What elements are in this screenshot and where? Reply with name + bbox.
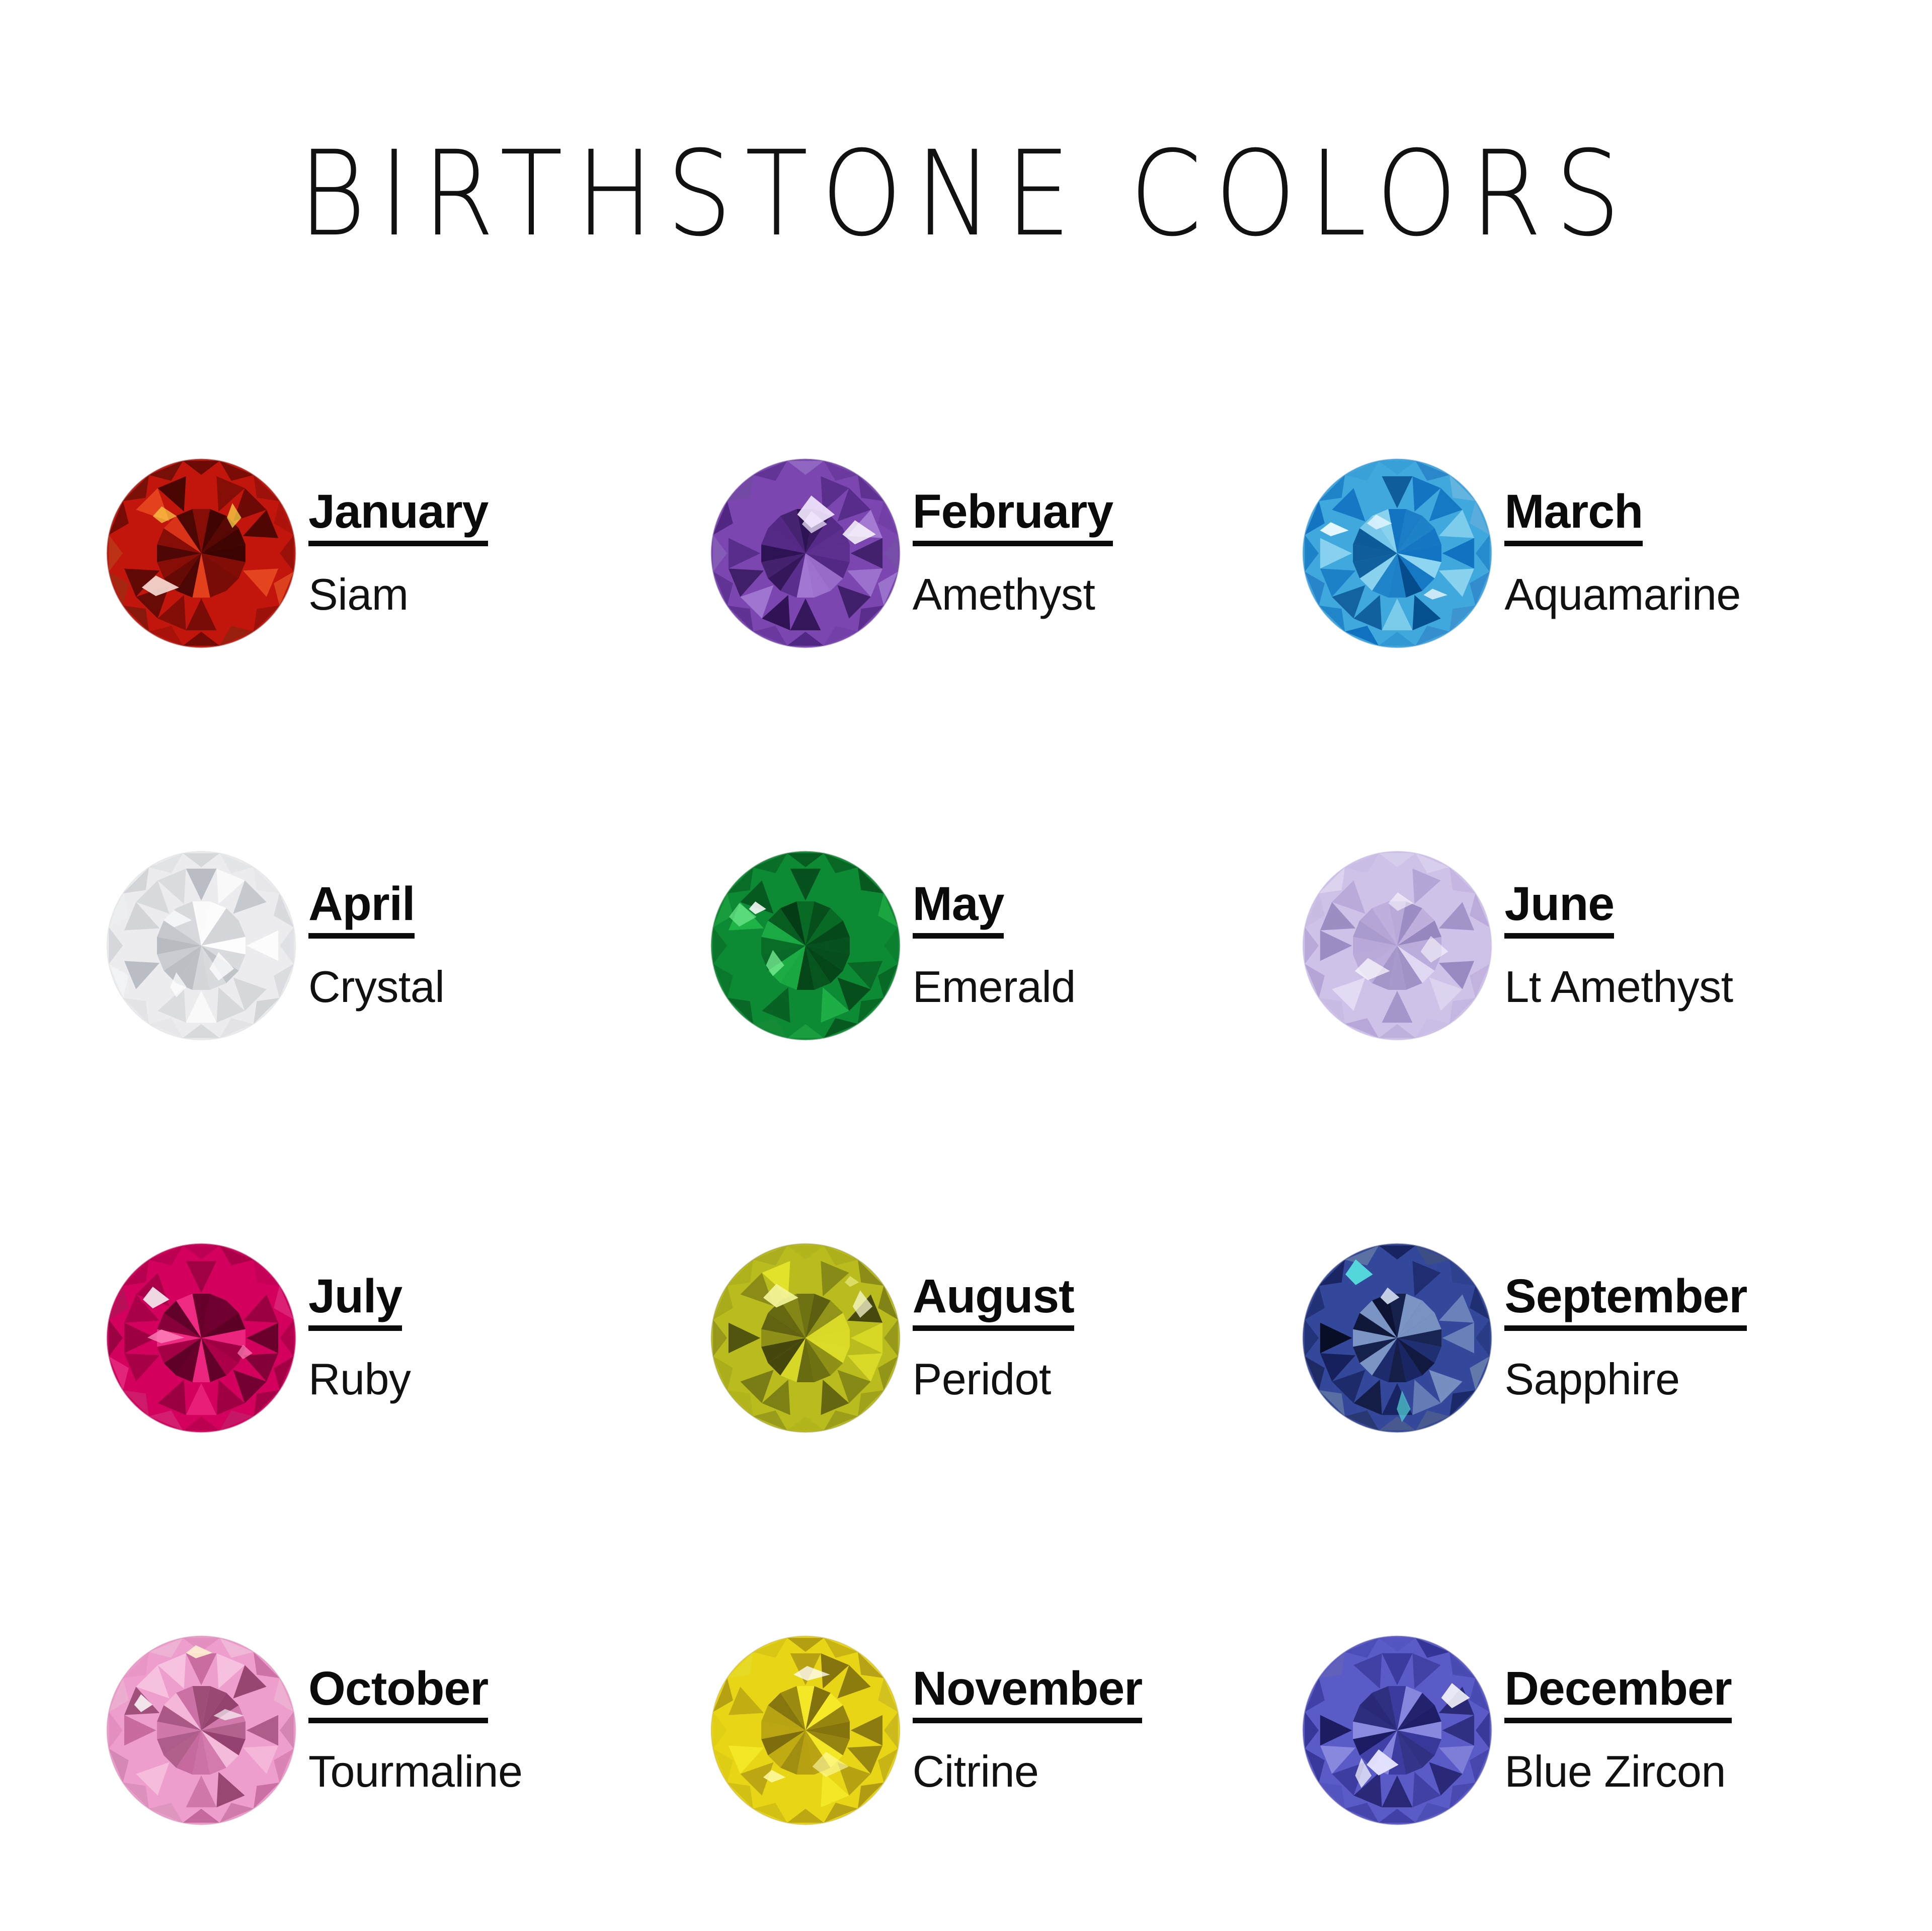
birthstone-labels: MarchAquamarine: [1504, 488, 1741, 619]
birthstone-cell-april: AprilCrystal: [78, 749, 670, 1142]
month-label: September: [1504, 1273, 1747, 1331]
birthstone-labels: JuneLt Amethyst: [1504, 880, 1733, 1011]
stone-name-label: Citrine: [913, 1749, 1039, 1794]
gem-icon-sapphire: [1299, 1240, 1495, 1436]
gem-icon-citrine: [707, 1632, 904, 1828]
stone-name-label: Crystal: [308, 965, 444, 1009]
gem-icon-emerald: [707, 848, 904, 1044]
gem-icon-lt-amethyst: [1299, 848, 1495, 1044]
birthstone-cell-december: DecemberBlue Zircon: [1262, 1534, 1854, 1926]
birthstone-cell-january: JanuarySiam: [78, 357, 670, 749]
birthstone-cell-october: OctoberTourmaline: [78, 1534, 670, 1926]
birthstone-labels: MayEmerald: [913, 880, 1076, 1011]
stone-name-label: Emerald: [913, 965, 1076, 1009]
gem-icon-ruby: [103, 1240, 299, 1436]
birthstone-cell-june: JuneLt Amethyst: [1262, 749, 1854, 1142]
birthstone-labels: FebruaryAmethyst: [913, 488, 1113, 619]
birthstone-cell-august: AugustPeridot: [670, 1142, 1262, 1534]
birthstone-grid: JanuarySiamFebruaryAmethystMarchAquamari…: [78, 357, 1854, 1926]
month-label: November: [913, 1665, 1143, 1723]
birthstone-labels: JanuarySiam: [308, 488, 488, 619]
page-title: BIRTHSTONE COLORS: [298, 136, 1634, 254]
month-label: January: [308, 488, 488, 546]
birthstone-cell-july: JulyRuby: [78, 1142, 670, 1534]
month-label: October: [308, 1665, 488, 1723]
birthstone-cell-march: MarchAquamarine: [1262, 357, 1854, 749]
birthstone-cell-september: SeptemberSapphire: [1262, 1142, 1854, 1534]
birthstone-poster: BIRTHSTONE COLORS JanuarySiamFebruaryAme…: [0, 0, 1932, 1931]
gem-icon-amethyst: [707, 455, 904, 651]
stone-name-label: Tourmaline: [308, 1749, 522, 1794]
birthstone-cell-february: FebruaryAmethyst: [670, 357, 1262, 749]
birthstone-labels: AugustPeridot: [913, 1273, 1074, 1403]
month-label: May: [913, 880, 1004, 939]
stone-name-label: Blue Zircon: [1504, 1749, 1726, 1794]
birthstone-labels: NovemberCitrine: [913, 1665, 1143, 1796]
month-label: July: [308, 1273, 402, 1331]
gem-icon-peridot: [707, 1240, 904, 1436]
month-label: December: [1504, 1665, 1731, 1723]
birthstone-cell-may: MayEmerald: [670, 749, 1262, 1142]
month-label: April: [308, 880, 415, 939]
birthstone-labels: OctoberTourmaline: [308, 1665, 522, 1796]
stone-name-label: Aquamarine: [1504, 572, 1741, 617]
stone-name-label: Ruby: [308, 1357, 411, 1401]
birthstone-labels: AprilCrystal: [308, 880, 444, 1011]
stone-name-label: Lt Amethyst: [1504, 965, 1733, 1009]
birthstone-labels: SeptemberSapphire: [1504, 1273, 1747, 1403]
month-label: June: [1504, 880, 1614, 939]
birthstone-labels: DecemberBlue Zircon: [1504, 1665, 1731, 1796]
gem-icon-crystal: [103, 848, 299, 1044]
month-label: March: [1504, 488, 1643, 546]
stone-name-label: Peridot: [913, 1357, 1051, 1401]
stone-name-label: Amethyst: [913, 572, 1095, 617]
month-label: August: [913, 1273, 1074, 1331]
birthstone-cell-november: NovemberCitrine: [670, 1534, 1262, 1926]
birthstone-labels: JulyRuby: [308, 1273, 411, 1403]
stone-name-label: Sapphire: [1504, 1357, 1679, 1401]
stone-name-label: Siam: [308, 572, 409, 617]
gem-icon-blue-zircon: [1299, 1632, 1495, 1828]
month-label: February: [913, 488, 1113, 546]
gem-icon-siam: [103, 455, 299, 651]
gem-icon-aquamarine: [1299, 455, 1495, 651]
gem-icon-tourmaline: [103, 1632, 299, 1828]
